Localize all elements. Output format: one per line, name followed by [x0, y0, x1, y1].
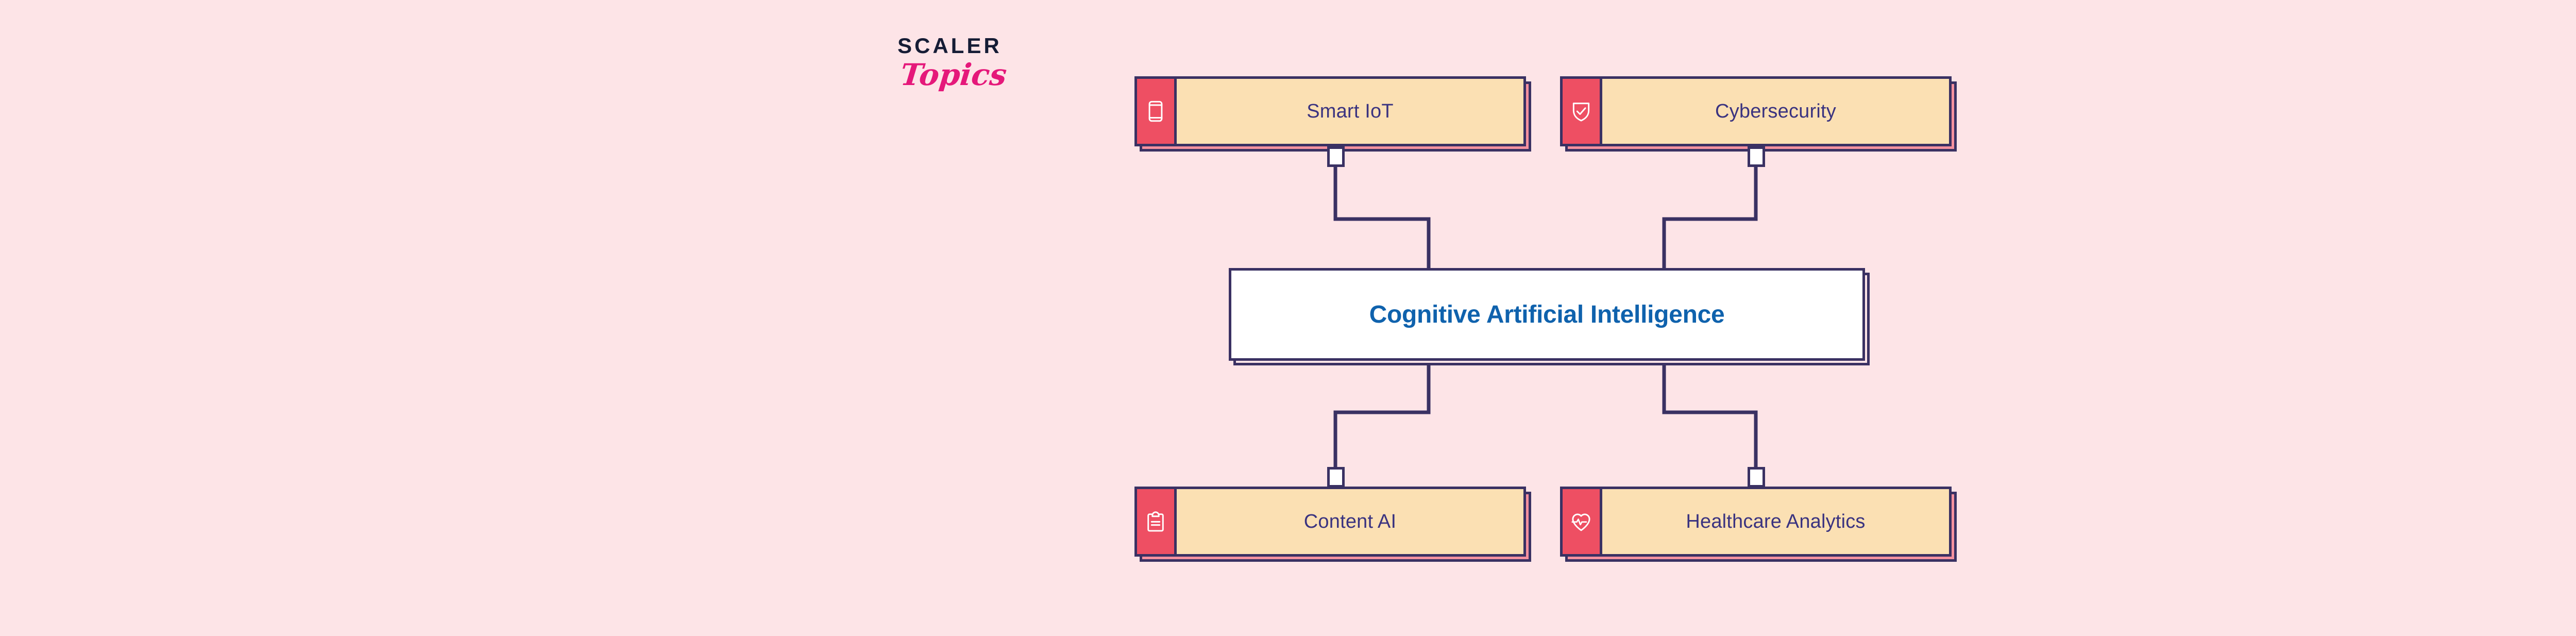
connector-tab-smart-iot — [1327, 146, 1345, 167]
logo-wordmark-scaler: SCALER — [897, 35, 1042, 57]
node-cybersecurity[interactable]: Cybersecurity — [1560, 76, 1952, 146]
connector-smart-iot-to-center — [1335, 165, 1429, 270]
scaler-topics-logo: SCALER Topics — [897, 35, 1042, 118]
shield-check-icon — [1563, 79, 1602, 144]
connector-center-to-content-ai — [1335, 361, 1429, 468]
diagram-canvas: SCALER Topics Smart IoT — [0, 0, 2576, 636]
connector-center-to-healthcare-analytics — [1664, 361, 1756, 468]
node-label: Healthcare Analytics — [1602, 489, 1949, 554]
node-cognitive-artificial-intelligence[interactable]: Cognitive Artificial Intelligence — [1229, 268, 1865, 361]
connector-tab-content-ai — [1327, 467, 1345, 488]
connector-tab-healthcare-analytics — [1748, 467, 1765, 488]
node-smart-iot[interactable]: Smart IoT — [1134, 76, 1526, 146]
node-body: Healthcare Analytics — [1560, 487, 1952, 557]
node-body: Content AI — [1134, 487, 1526, 557]
connector-tab-cybersecurity — [1748, 146, 1765, 167]
node-content-ai[interactable]: Content AI — [1134, 487, 1526, 557]
clipboard-icon — [1137, 489, 1177, 554]
smartphone-icon — [1137, 79, 1177, 144]
connector-cybersecurity-to-center — [1664, 165, 1756, 270]
node-body: Cybersecurity — [1560, 76, 1952, 146]
node-body: Cognitive Artificial Intelligence — [1229, 268, 1865, 361]
heart-pulse-icon — [1563, 489, 1602, 554]
logo-wordmark-topics: Topics — [899, 60, 1043, 90]
node-label: Content AI — [1177, 489, 1523, 554]
node-label: Cybersecurity — [1602, 79, 1949, 144]
node-body: Smart IoT — [1134, 76, 1526, 146]
node-healthcare-analytics[interactable]: Healthcare Analytics — [1560, 487, 1952, 557]
node-label: Smart IoT — [1177, 79, 1523, 144]
center-node-label: Cognitive Artificial Intelligence — [1369, 300, 1725, 329]
